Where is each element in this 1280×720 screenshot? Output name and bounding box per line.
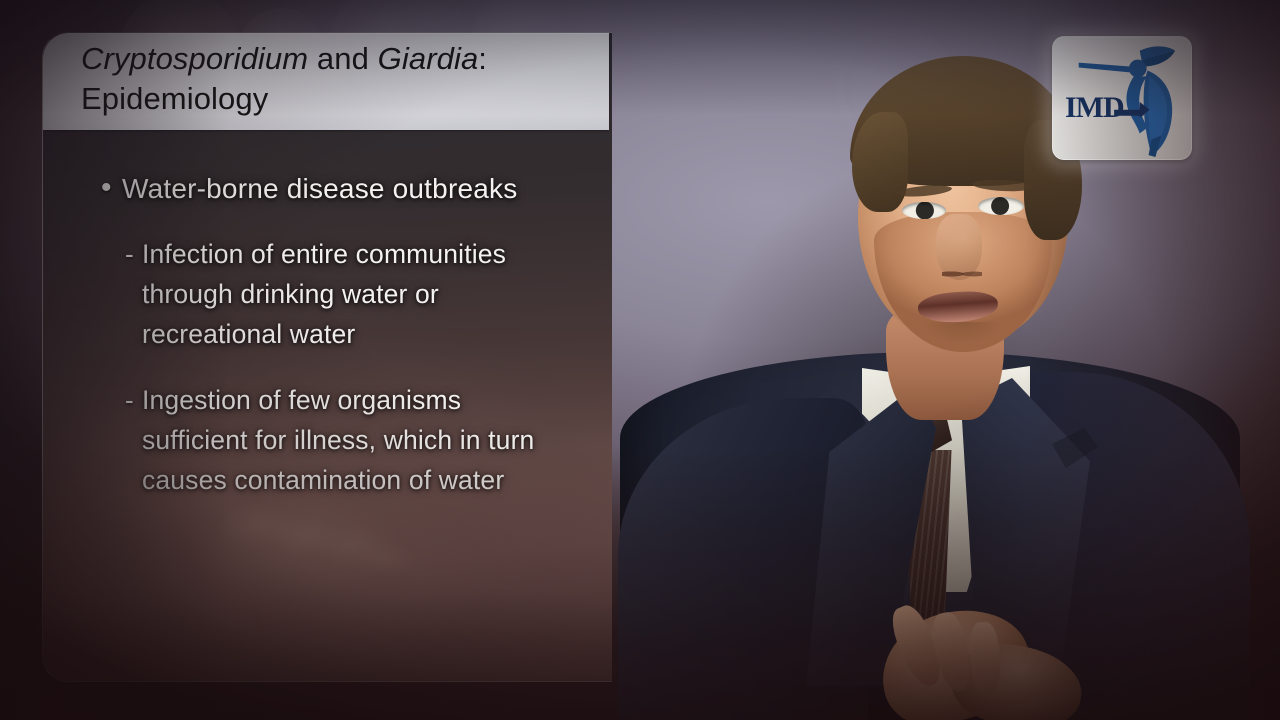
video-frame: male presenter in dark navy suit, white … bbox=[0, 0, 1280, 720]
frame-vignette bbox=[0, 0, 1280, 720]
